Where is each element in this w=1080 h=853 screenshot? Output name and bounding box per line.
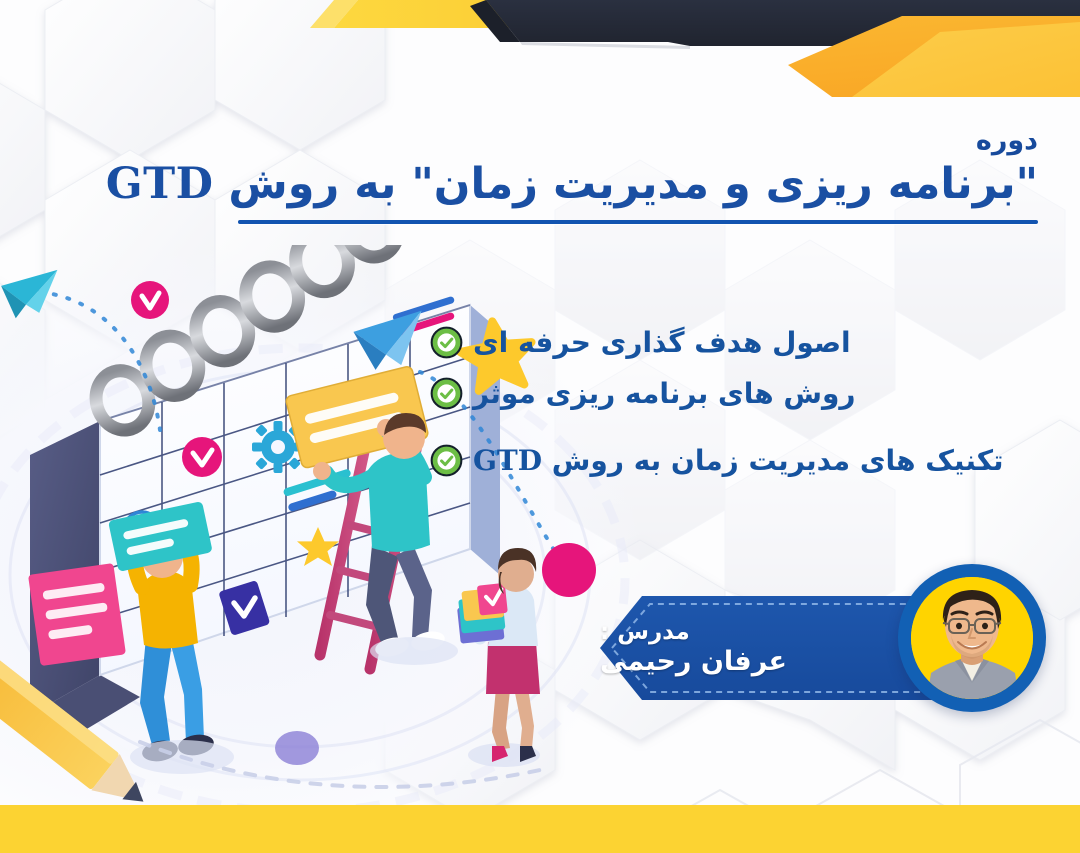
list-item-text: اصول هدف گذاری حرفه ای (473, 326, 851, 359)
list-item-label: روش های برنامه ریزی موثر (473, 376, 856, 411)
check-circle-icon (430, 377, 463, 410)
page-title: "برنامه ریزی و مدیریت زمان" به روش GTD (208, 158, 1038, 210)
check-circle-icon (430, 326, 463, 359)
instructor-block: مدرس : عرفان رحیمی (600, 560, 1050, 740)
title-underline (238, 220, 1038, 224)
banner-canvas: دوره "برنامه ریزی و مدیریت زمان" به روش … (0, 0, 1080, 853)
check-circle-icon (430, 444, 463, 477)
list-item-text-latin: GTD (473, 444, 542, 477)
list-item: روش های برنامه ریزی موثر (430, 376, 1050, 411)
header-decoration (0, 0, 1080, 115)
instructor-text: مدرس : عرفان رحیمی (600, 592, 940, 704)
list-item-label: تکنیک های مدیریت زمان به روش GTD (473, 443, 1004, 478)
course-kicker: دوره (208, 126, 1038, 156)
title-block: دوره "برنامه ریزی و مدیریت زمان" به روش … (208, 126, 1038, 224)
page-title-latin: GTD (106, 159, 214, 209)
list-item-label: اصول هدف گذاری حرفه ای (473, 325, 851, 360)
instructor-portrait (911, 577, 1033, 699)
list-item: تکنیک های مدیریت زمان به روش GTD (430, 443, 1050, 478)
feature-list: اصول هدف گذاری حرفه ای روش های برنامه ری… (430, 325, 1050, 478)
page-title-rtl: "برنامه ریزی و مدیریت زمان" به روش (213, 159, 1038, 209)
footer-bar (0, 805, 1080, 853)
avatar (898, 560, 1046, 720)
list-item: اصول هدف گذاری حرفه ای (430, 325, 1050, 360)
list-item-text: تکنیک های مدیریت زمان به روش (542, 444, 1004, 477)
instructor-label: مدرس : (600, 619, 690, 645)
instructor-name: عرفان رحیمی (600, 646, 787, 677)
list-item-text: روش های برنامه ریزی موثر (473, 377, 856, 410)
